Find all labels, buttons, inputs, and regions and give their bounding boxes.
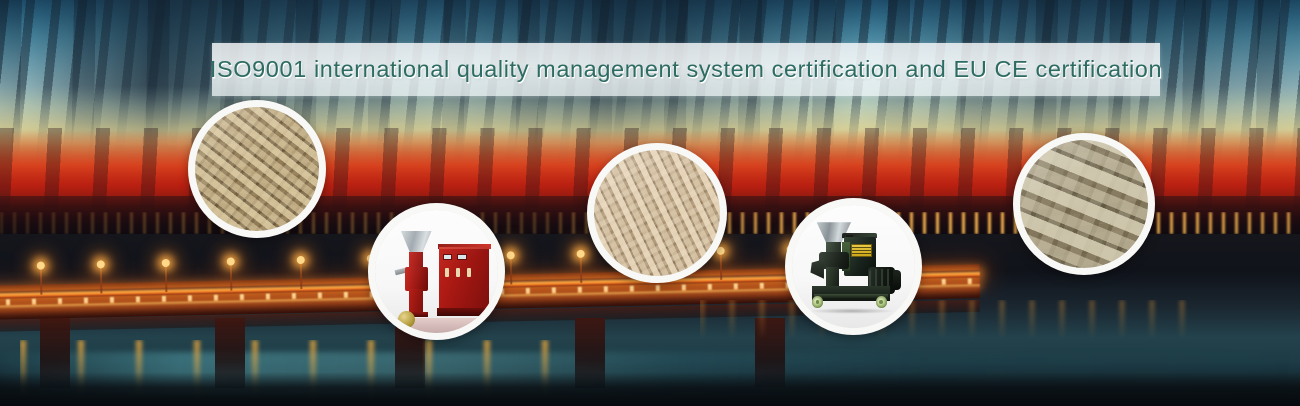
circle-green-pellet-mill: [785, 198, 922, 335]
mill-body: [405, 267, 428, 292]
machine-shadow: [809, 308, 895, 314]
headline-text: ISO9001 international quality management…: [212, 43, 1160, 96]
control-knob: [445, 268, 449, 277]
circle-wood-pellets-long: [587, 143, 727, 283]
circle-wood-pellets-closeup: [1013, 133, 1155, 275]
stainless-hopper: [401, 231, 432, 254]
wood-pellets-long-image: [594, 150, 720, 276]
studio-floor: [375, 318, 498, 333]
machine-wheel: [876, 296, 888, 308]
wood-pellets-closeup-image: [1020, 140, 1148, 268]
control-display: [443, 254, 453, 260]
foreground-shore: [0, 372, 1300, 406]
circle-red-pellet-mill: [368, 203, 505, 340]
wood-pellets-bulk-image: [195, 107, 319, 231]
green-pellet-mill-image: [792, 205, 915, 328]
red-pellet-mill-image: [375, 210, 498, 333]
headline-panel: ISO9001 international quality management…: [212, 43, 1160, 96]
spec-label-text: [852, 247, 870, 254]
motor-fan-cover: [893, 270, 902, 290]
control-display: [457, 254, 467, 260]
discharge-chute: [810, 259, 824, 279]
mill-column: [409, 289, 423, 314]
control-knob: [456, 268, 460, 277]
control-knob: [467, 268, 471, 277]
cabinet-base: [437, 308, 492, 315]
machine-wheel: [812, 296, 824, 308]
promo-banner: ISO9001 international quality management…: [0, 0, 1300, 406]
city-light-reflections: [700, 300, 1200, 340]
circle-wood-pellets-bulk: [188, 100, 326, 238]
